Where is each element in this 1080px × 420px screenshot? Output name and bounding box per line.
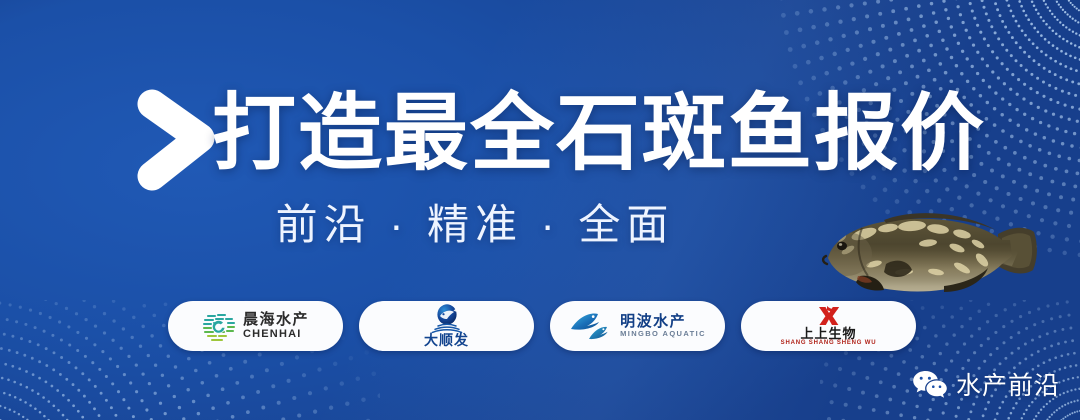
badge-shangshang-en: SHANG SHANG SHENG WU [781, 340, 877, 347]
badge-chenhai-text: 晨海水产 CHENHAI [243, 312, 309, 340]
shangshang-x-logo [816, 305, 842, 327]
badge-chenhai-cn: 晨海水产 [243, 312, 309, 328]
grouper-fish-photo [812, 196, 1040, 316]
badge-chenhai-en: CHENHAI [243, 328, 309, 340]
badge-chenhai[interactable]: 晨海水产 CHENHAI [168, 301, 343, 351]
badge-mingbo-en: MINGBO AQUATIC [620, 330, 706, 338]
dashunfa-fish-logo [429, 304, 465, 334]
mingbo-fish-logo [569, 310, 613, 342]
badge-dashunfa-cn: 大顺发 [424, 333, 469, 348]
badge-mingbo-cn: 明波水产 [620, 314, 706, 330]
watermark-label: 水产前沿 [956, 374, 1060, 399]
badge-mingbo-text: 明波水产 MINGBO AQUATIC [620, 314, 706, 338]
page-title: 打造最全石斑鱼报价 [212, 78, 972, 188]
sponsor-badge-list: 晨海水产 CHENHAI [168, 301, 916, 351]
wechat-icon [912, 369, 948, 404]
badge-dashunfa[interactable]: 大顺发 [359, 301, 534, 351]
chenhai-circle-logo [202, 309, 236, 343]
watermark: 水产前沿 [912, 369, 1060, 404]
banner-root: 打造最全石斑鱼报价 前沿 · 精准 · 全面 [0, 0, 1080, 420]
badge-shangshang[interactable]: 上上生物 SHANG SHANG SHENG WU [741, 301, 916, 351]
chevron-right-icon [134, 88, 220, 192]
badge-shangshang-cn: 上上生物 [800, 327, 856, 340]
badge-mingbo[interactable]: 明波水产 MINGBO AQUATIC [550, 301, 725, 351]
